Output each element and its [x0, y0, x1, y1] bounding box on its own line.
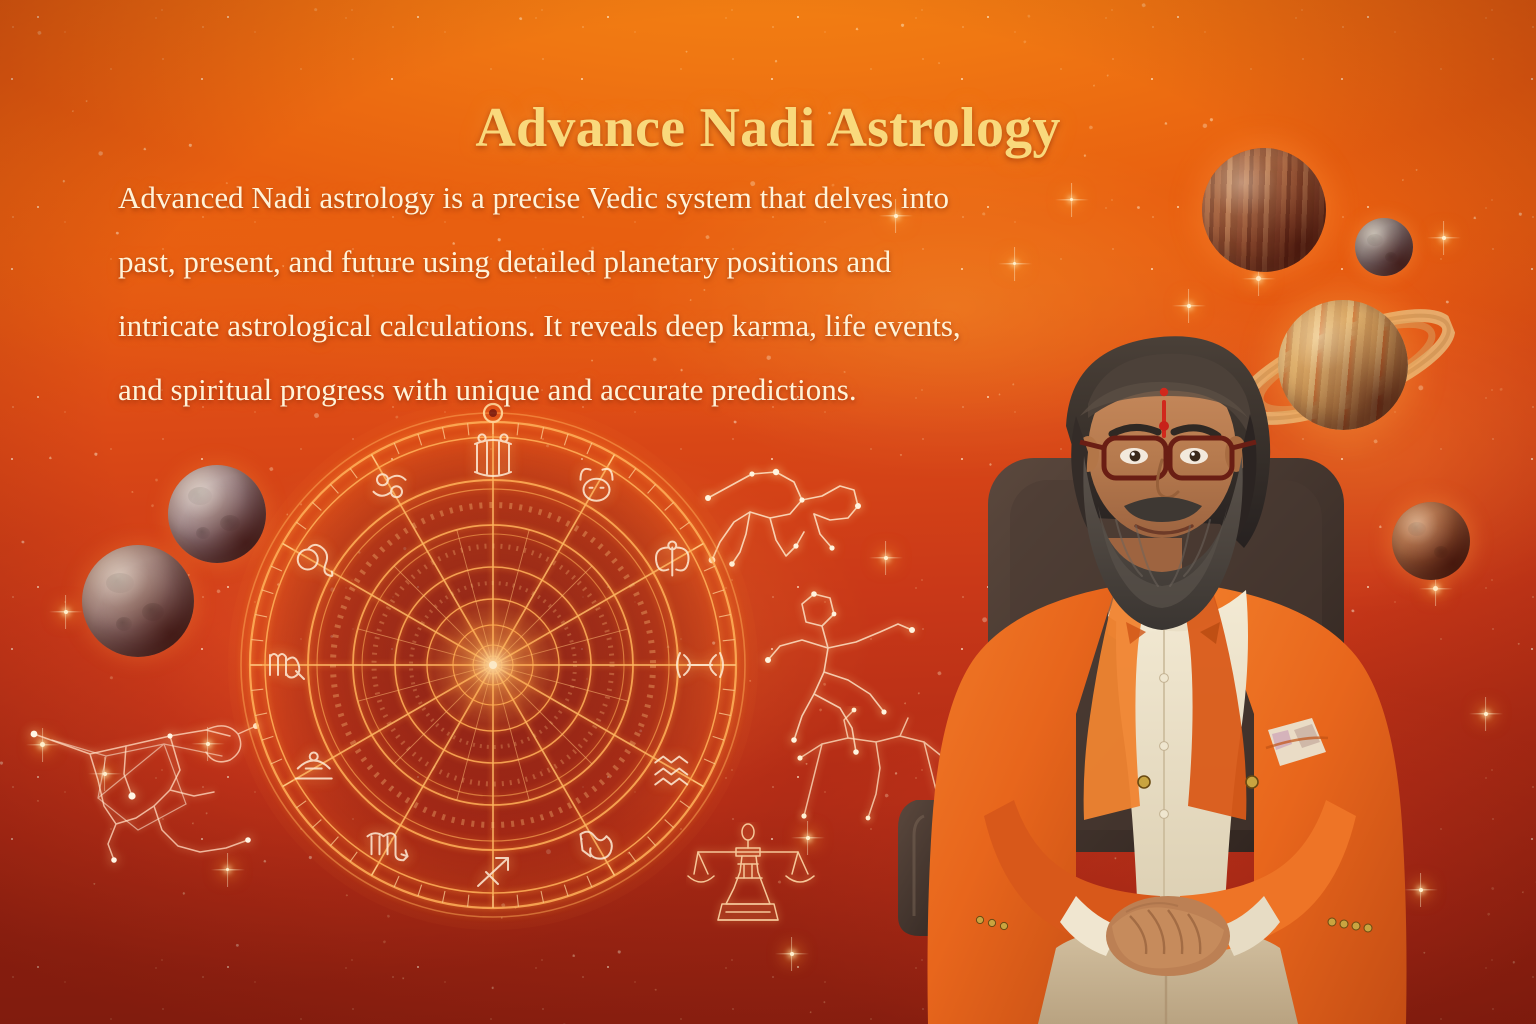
glow-star: [1484, 712, 1488, 716]
description-line: Advanced Nadi astrology is a precise Ved…: [118, 166, 1128, 230]
description-line: past, present, and future using detailed…: [118, 230, 1128, 294]
clasped-hands: [1106, 896, 1230, 976]
glow-star: [806, 836, 810, 840]
planet-left-moon-lower: [82, 545, 194, 657]
glow-star: [103, 772, 107, 776]
glow-star: [40, 742, 45, 747]
description-text: Advanced Nadi astrology is a precise Ved…: [118, 166, 1128, 422]
planet-grey-moon: [1355, 218, 1413, 276]
glow-star: [206, 742, 210, 746]
page-title: Advance Nadi Astrology: [0, 96, 1536, 160]
description-line: intricate astrological calculations. It …: [118, 294, 1128, 358]
glow-star: [1187, 304, 1191, 308]
zodiac-wheel: [228, 400, 758, 930]
planet-jupiter: [1202, 148, 1326, 272]
astrology-banner: Advance Nadi Astrology Advanced Nadi ast…: [0, 0, 1536, 1024]
glow-star: [790, 952, 794, 956]
glow-star: [1256, 276, 1261, 281]
description-line: and spiritual progress with unique and a…: [118, 358, 1128, 422]
astrologer-portrait: [880, 330, 1480, 1024]
planet-left-moon-upper: [168, 465, 266, 563]
glow-star: [64, 610, 68, 614]
glow-star: [1442, 236, 1446, 240]
